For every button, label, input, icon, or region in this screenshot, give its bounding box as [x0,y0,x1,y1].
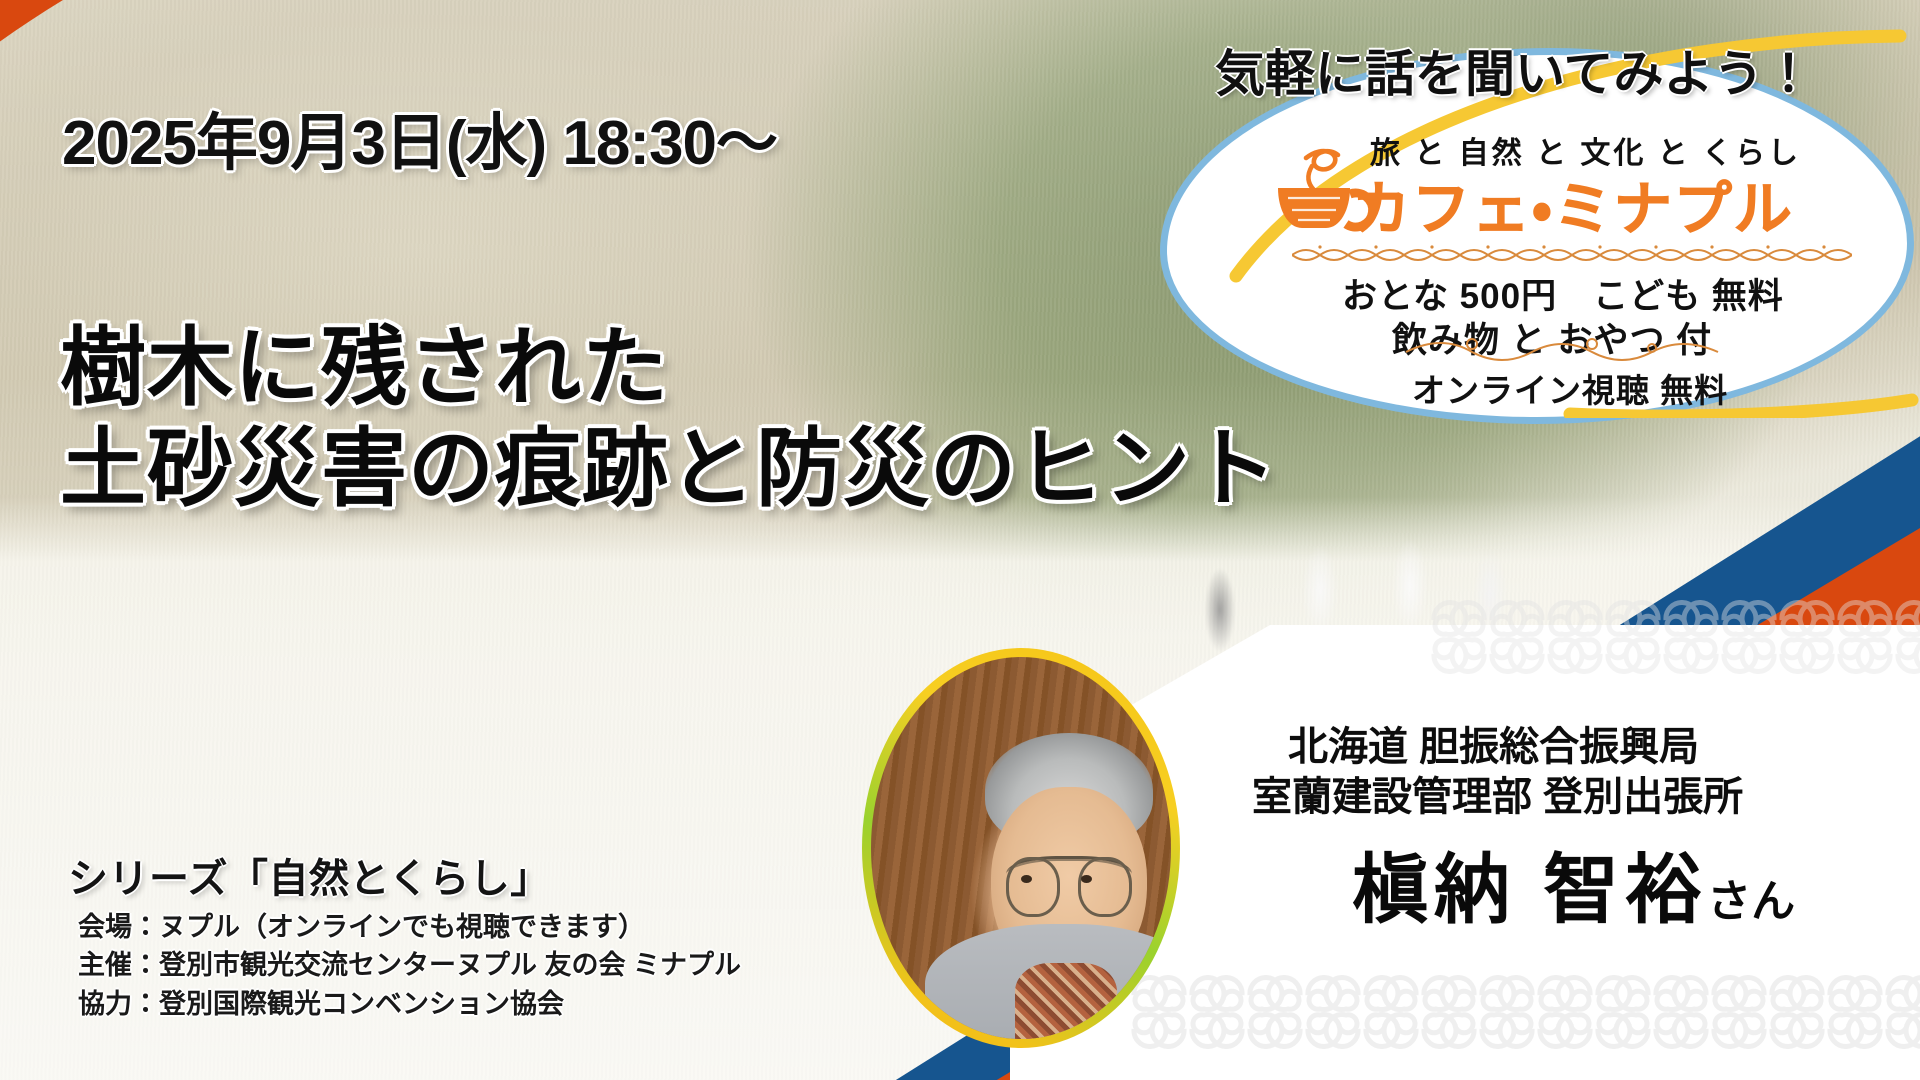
title-line-1: 樹木に残された [60,318,1278,419]
avatar-eye-left [1021,875,1032,883]
speaker-name-text: 槇納 智裕 [1352,848,1707,933]
speaker-org-line-1: 北海道 胆振総合振興局 [1288,722,1743,772]
lace-divider [1292,244,1852,266]
event-date-time: 2025年9月3日(水) 18:30～ [62,92,777,182]
speaker-org-line-2: 室蘭建設管理部 登別出張所 [1252,772,1743,822]
avatar [862,648,1180,1048]
page-title: 樹木に残された 土砂災害の痕跡と防災のヒント [60,318,1278,519]
event-poster: 2025年9月3日(水) 18:30～ 樹木に残された 土砂災害の痕跡と防災のヒ… [0,0,1920,1080]
avatar-collar [1015,963,1117,1039]
title-line-2: 土砂災害の痕跡と防災のヒント [60,419,1278,520]
speaker-honorific: さん [1707,877,1795,926]
series-label: シリーズ「自然とくらし」 [68,846,551,904]
swirl-divider [1402,336,1732,362]
credit-cooperation: 協力：登別国際観光コンベンション協会 [78,985,741,1023]
avatar-eye-right [1081,875,1092,883]
speaker-name: 槇納 智裕さん [1352,828,1795,938]
badge-headline: 気軽に話を聞いてみよう！ [1215,34,1915,106]
ainu-pattern-band-bottom [1130,975,1920,1049]
price-online: オンライン視聴 無料 [1412,364,1728,412]
credit-organizer: 主催：登別市観光交流センターヌプル 友の会 ミナプル [78,946,741,984]
ainu-pattern-band-right [1430,600,1920,674]
credit-venue: 会場：ヌプル（オンラインでも視聴できます） [78,908,741,946]
logo-name: カフェ・ミナプル [1352,162,1794,246]
credits-block: 会場：ヌプル（オンラインでも視聴できます） 主催：登別市観光交流センターヌプル … [78,908,741,1023]
speaker-organization: 北海道 胆振総合振興局 室蘭建設管理部 登別出張所 [1288,722,1743,823]
avatar-photo [871,657,1171,1039]
